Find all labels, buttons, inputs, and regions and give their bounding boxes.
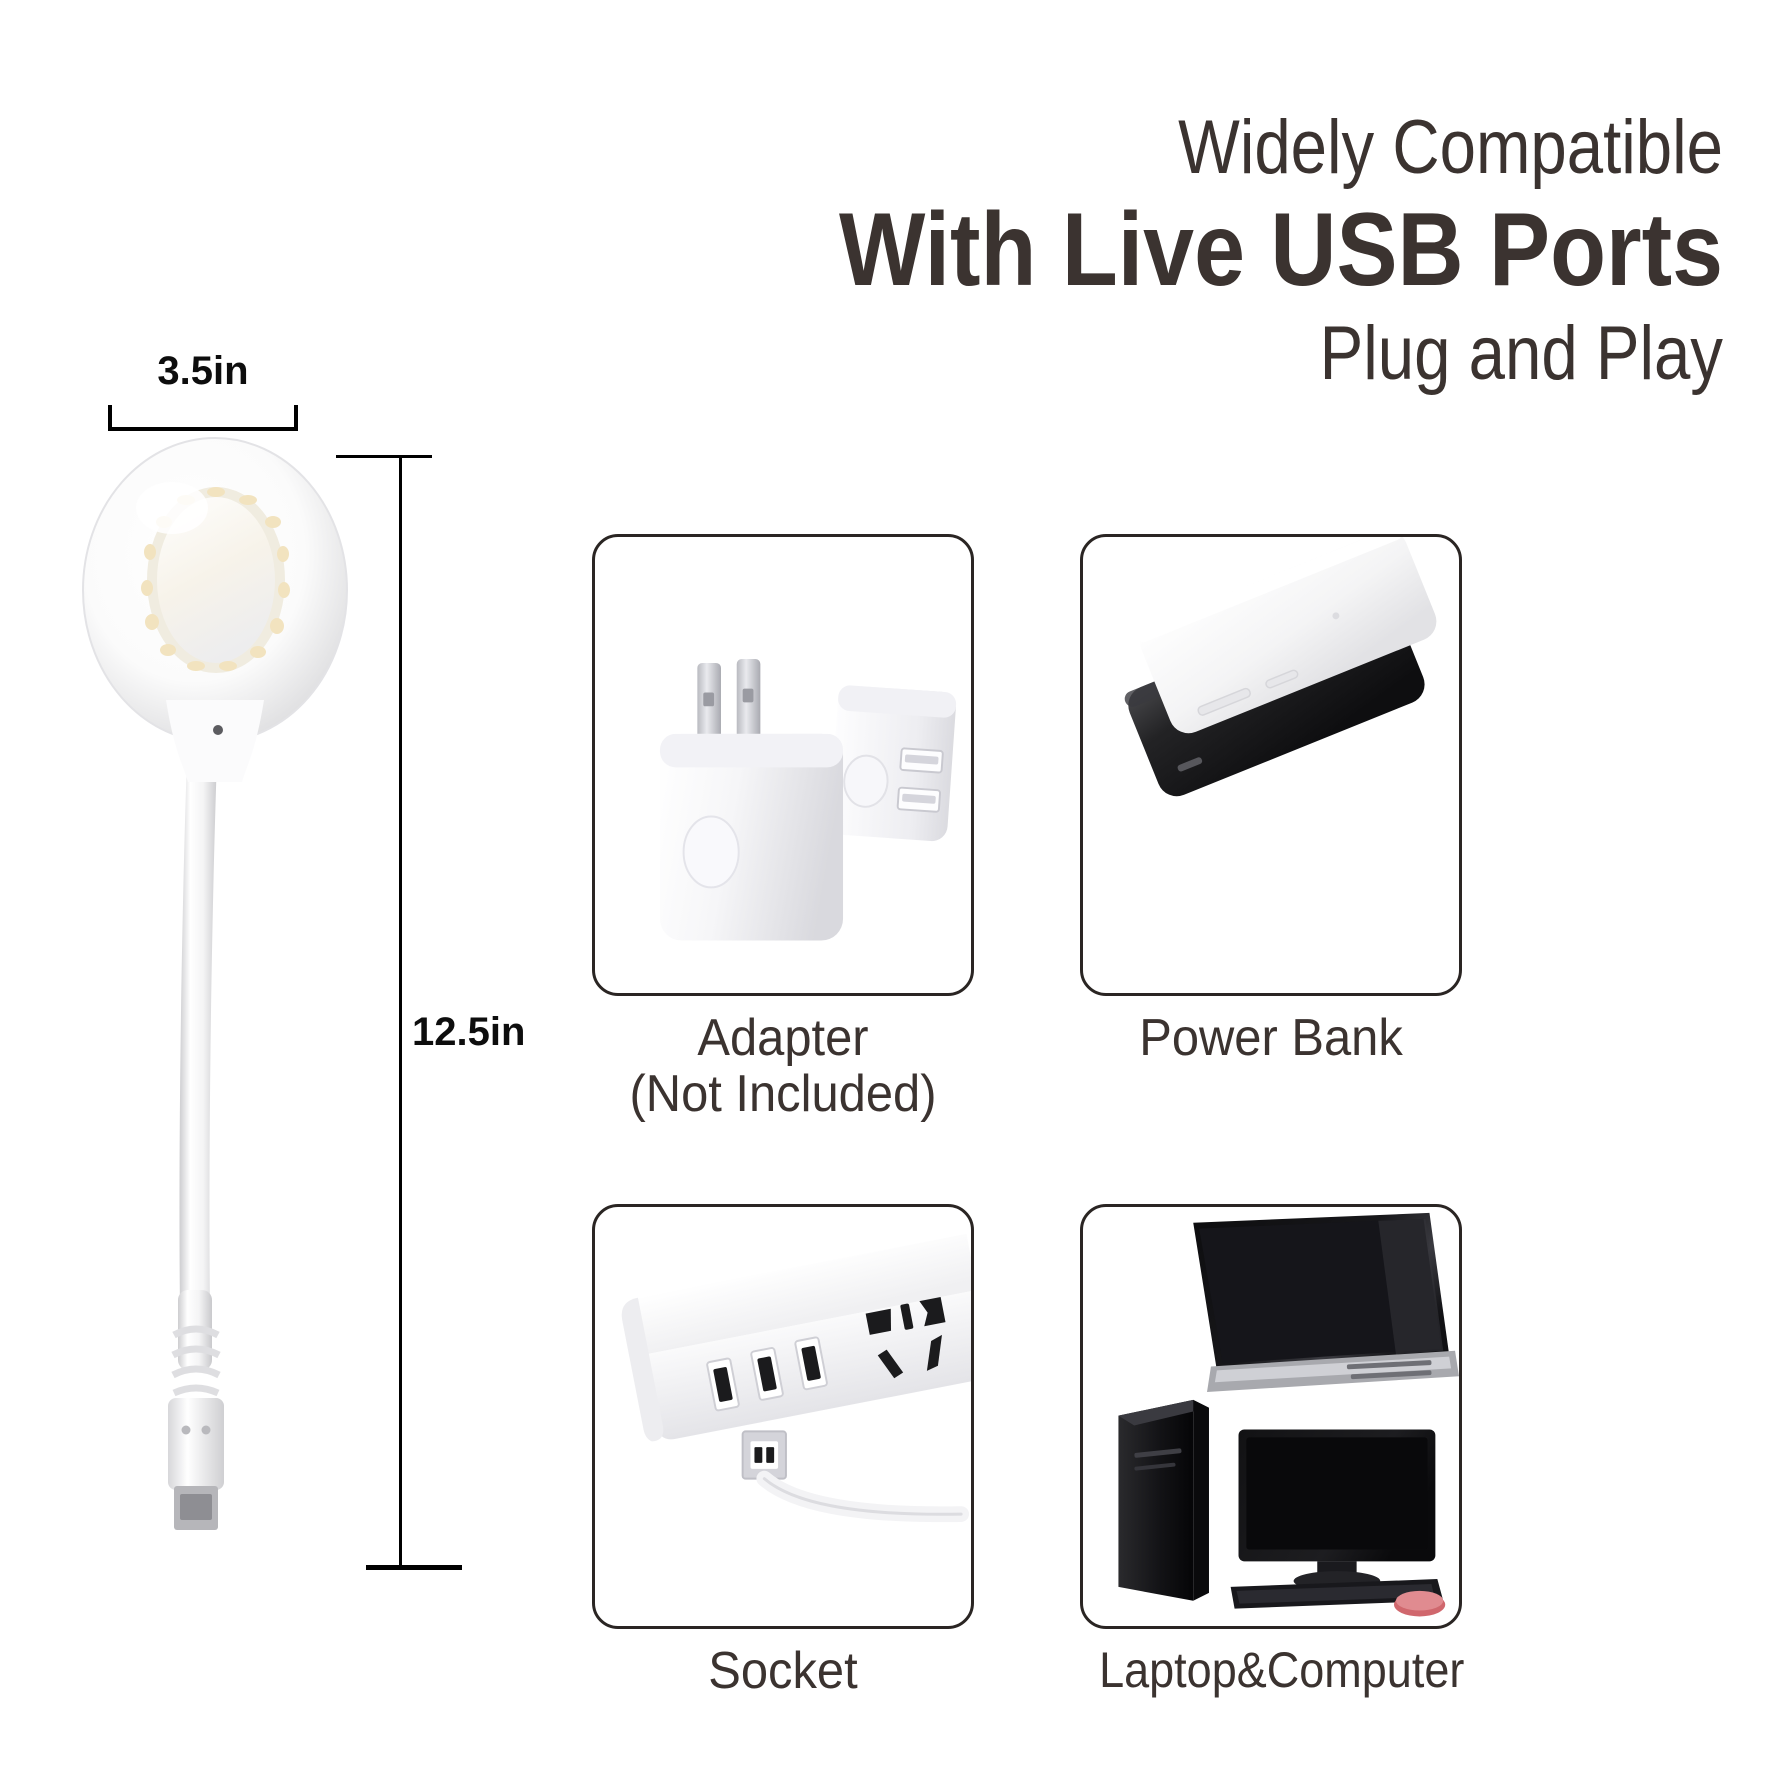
desktop-tower (1118, 1400, 1209, 1601)
adapter-front-detail (684, 817, 739, 888)
compatibility-grid: Adapter (Not Included) (592, 534, 1712, 1664)
lamp-head-highlight (136, 482, 208, 534)
height-dimension-line (399, 455, 402, 1567)
grid-item-adapter[interactable]: Adapter (Not Included) (592, 534, 974, 1122)
width-dimension-label: 3.5in (108, 349, 298, 394)
adapter-label: Adapter (697, 1009, 868, 1067)
adapter-caption: Adapter (Not Included) (603, 1010, 962, 1122)
usb-housing-dot-left (182, 1426, 191, 1435)
power-bank-icon (1083, 537, 1459, 992)
desktop-keyboard-mouse (1231, 1579, 1446, 1616)
width-dimension-bracket (108, 405, 298, 431)
usb-wall-adapter-icon (595, 537, 971, 992)
lamp-usb-housing (168, 1398, 224, 1490)
power-strip-body (619, 1234, 971, 1445)
headline-block: Widely Compatible With Live USB Ports Pl… (623, 110, 1723, 392)
height-dimension-label: 12.5in (412, 1010, 525, 1055)
lamp-svg (70, 430, 360, 1530)
socket-image-box (592, 1204, 974, 1629)
laptop (1193, 1213, 1459, 1392)
grid-item-socket[interactable]: Socket (592, 1204, 974, 1699)
laptop-desktop-icon (1083, 1207, 1459, 1625)
grid-item-laptop-computer[interactable]: Laptop&Computer (1080, 1204, 1462, 1697)
adapter-image-box (592, 534, 974, 996)
usb-housing-dot-right (202, 1426, 211, 1435)
lamp-sensor-dot (213, 725, 223, 735)
adapter-unit-front (660, 659, 843, 940)
lamp-head-joint (166, 700, 264, 782)
laptop-computer-image-box (1080, 1204, 1462, 1629)
headline-line-2: With Live USB Ports (755, 198, 1723, 302)
lamp-gooseneck (179, 730, 218, 1310)
usb-connector-inner (180, 1494, 212, 1520)
headline-line-1: Widely Compatible (777, 110, 1723, 186)
socket-caption: Socket (603, 1643, 962, 1699)
grid-item-power-bank[interactable]: Power Bank (1080, 534, 1462, 1066)
desk-lamp-product-image (70, 430, 360, 1530)
socket-label: Socket (708, 1642, 857, 1700)
headline-line-3: Plug and Play (777, 316, 1723, 392)
power-bank-caption: Power Bank (1091, 1010, 1450, 1066)
power-strip-socket-icon (595, 1207, 971, 1625)
power-bank-label: Power Bank (1139, 1009, 1403, 1067)
adapter-unit-rear (829, 685, 957, 842)
power-bank-image-box (1080, 534, 1462, 996)
desktop-monitor (1239, 1429, 1436, 1590)
inserted-usb-plug (743, 1431, 962, 1514)
adapter-sub-label: (Not Included) (603, 1066, 962, 1122)
laptop-computer-caption: Laptop&Computer (1099, 1643, 1443, 1697)
laptop-computer-label: Laptop&Computer (1099, 1642, 1464, 1698)
height-dimension-bottom-tick (366, 1565, 462, 1570)
